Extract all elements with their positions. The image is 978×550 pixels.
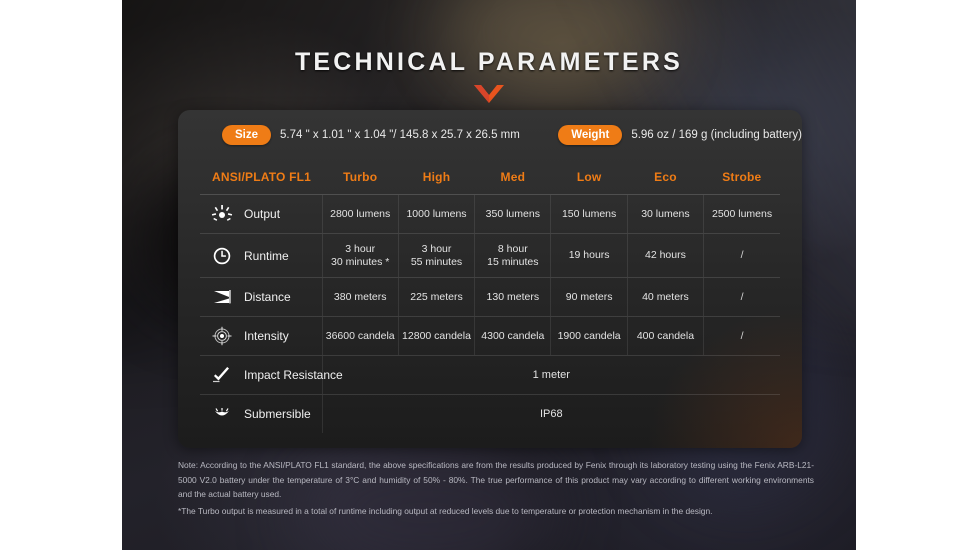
size-weight-strip: Size 5.74 " x 1.01 " x 1.04 "/ 145.8 x 2… [178,110,802,160]
beam-distance-icon [210,287,234,307]
table-row: Submersible IP68 [200,395,780,434]
weight-badge: Weight [558,125,622,145]
row-label-runtime: Runtime [200,234,322,278]
table-row: Impact Resistance 1 meter [200,356,780,395]
footnote-star-note: *The Turbo output is measured in a total… [178,504,814,519]
row-label-intensity: Intensity [200,317,322,356]
cell-distance-strobe: / [704,278,780,317]
cell-intensity-med: 4300 candela [475,317,551,356]
cell-runtime-turbo: 3 hour30 minutes * [322,234,398,278]
footnote-note: Note: According to the ANSI/PLATO FL1 st… [178,458,814,502]
row-label-text: Intensity [244,329,289,343]
column-header-med: Med [475,160,551,195]
clock-icon [210,246,234,266]
screenshot-root: TECHNICAL PARAMETERS Size 5.74 " x 1.01 … [0,0,978,550]
size-value: 5.74 " x 1.01 " x 1.04 "/ 145.8 x 25.7 x… [280,129,520,141]
cell-output-turbo: 2800 lumens [322,195,398,234]
cell-intensity-strobe: / [704,317,780,356]
row-label-text: Distance [244,290,291,304]
table-row: Intensity 36600 candela 12800 candela 43… [200,317,780,356]
cell-submersible-value: IP68 [322,395,780,434]
cell-impact-resistance-value: 1 meter [322,356,780,395]
cell-output-low: 150 lumens [551,195,627,234]
row-label-distance: Distance [200,278,322,317]
table-row: Runtime 3 hour30 minutes * 3 hour55 minu… [200,234,780,278]
spec-panel: Size 5.74 " x 1.01 " x 1.04 "/ 145.8 x 2… [178,110,802,448]
size-badge: Size [222,125,271,145]
sunburst-icon [210,204,234,224]
cell-runtime-high: 3 hour55 minutes [398,234,474,278]
weight-value: 5.96 oz / 169 g (including battery) [631,129,802,141]
column-header-strobe: Strobe [704,160,780,195]
column-header-high: High [398,160,474,195]
cell-runtime-eco: 42 hours [627,234,703,278]
row-label-text: Runtime [244,248,289,262]
cell-distance-high: 225 meters [398,278,474,317]
row-label-submersible: Submersible [200,395,322,434]
water-drop-icon [210,404,234,424]
table-row: Distance 380 meters 225 meters 130 meter… [200,278,780,317]
page-title: TECHNICAL PARAMETERS [0,48,978,77]
cell-output-high: 1000 lumens [398,195,474,234]
cell-runtime-strobe: / [704,234,780,278]
cell-distance-med: 130 meters [475,278,551,317]
cell-intensity-high: 12800 candela [398,317,474,356]
cell-runtime-med: 8 hour15 minutes [475,234,551,278]
specs-table: ANSI/PLATO FL1 Turbo High Med Low Eco St… [200,160,780,433]
row-label-text: Submersible [244,407,311,421]
chevron-down-icon [0,84,978,110]
column-header-low: Low [551,160,627,195]
table-row: Output 2800 lumens 1000 lumens 350 lumen… [200,195,780,234]
row-label-text: Impact Resistance [244,368,343,382]
cell-output-strobe: 2500 lumens [704,195,780,234]
row-label-impact-resistance: Impact Resistance [200,356,322,395]
column-header-standard: ANSI/PLATO FL1 [200,160,322,195]
target-crosshair-icon [210,326,234,346]
cell-distance-turbo: 380 meters [322,278,398,317]
cell-intensity-turbo: 36600 candela [322,317,398,356]
footnote: Note: According to the ANSI/PLATO FL1 st… [178,458,814,518]
cell-intensity-eco: 400 candela [627,317,703,356]
cell-intensity-low: 1900 candela [551,317,627,356]
cell-output-eco: 30 lumens [627,195,703,234]
column-header-turbo: Turbo [322,160,398,195]
cell-distance-eco: 40 meters [627,278,703,317]
cell-distance-low: 90 meters [551,278,627,317]
column-header-eco: Eco [627,160,703,195]
cell-output-med: 350 lumens [475,195,551,234]
impact-check-icon [210,365,234,385]
table-header-row: ANSI/PLATO FL1 Turbo High Med Low Eco St… [200,160,780,195]
row-label-output: Output [200,195,322,234]
cell-runtime-low: 19 hours [551,234,627,278]
row-label-text: Output [244,207,280,221]
